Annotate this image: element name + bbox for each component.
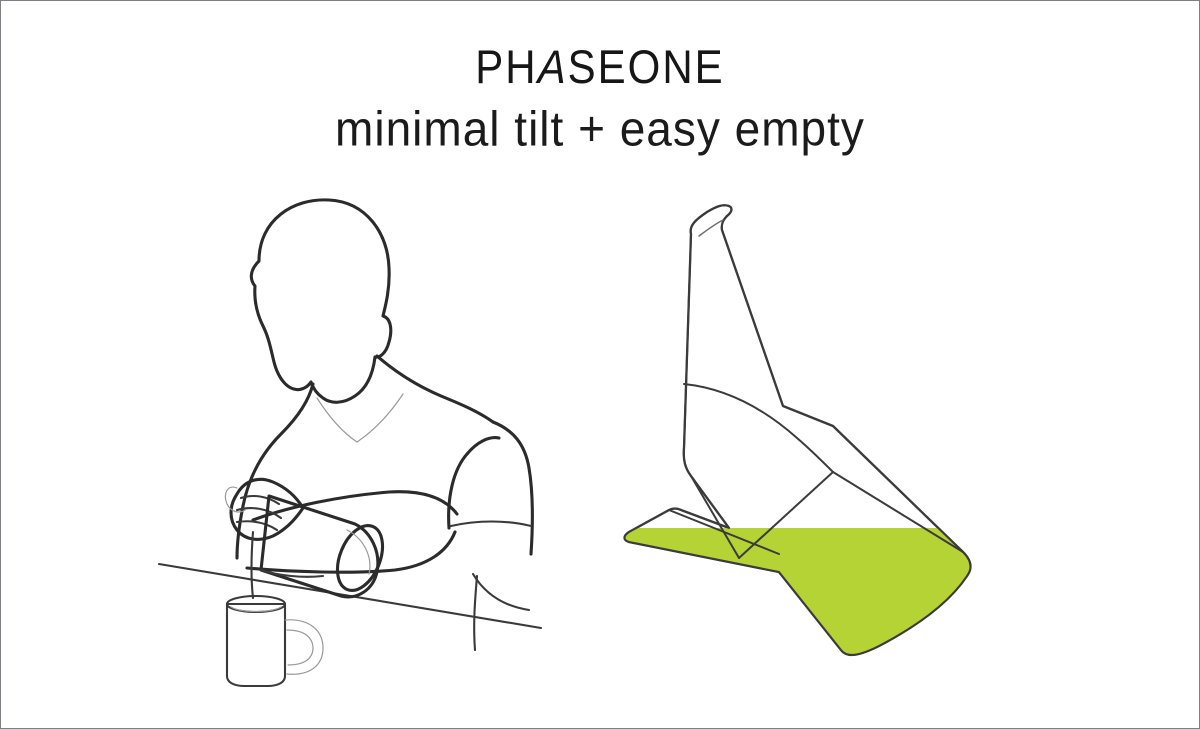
slide-canvas: PHASEONE minimal tilt + easy empty <box>0 0 1200 729</box>
brand-title-after: SEONE <box>568 40 725 93</box>
shoulder-right-line <box>377 356 493 422</box>
illustration-person-pouring <box>141 176 621 696</box>
container-rim <box>329 519 392 597</box>
head-outline <box>251 200 390 402</box>
tilted-vessel-svg <box>611 176 1081 676</box>
illustration-tilted-vessel <box>611 176 1081 676</box>
pour-stream-line <box>252 532 254 598</box>
page-title: PHASEONE <box>1 1 1199 91</box>
page-subtitle: minimal tilt + easy empty <box>1 81 1199 153</box>
brand-title-accent-letter: A <box>537 44 568 91</box>
mug-handle <box>285 620 323 674</box>
mug-body <box>227 604 285 686</box>
shirt-hem-line <box>473 574 529 610</box>
sleeve-hem-line <box>451 522 531 527</box>
person-pouring-svg <box>141 176 621 696</box>
finger-line-3 <box>237 521 277 530</box>
sleeve-right-outer <box>493 422 532 554</box>
slide-header: PHASEONE minimal tilt + easy empty <box>1 1 1199 149</box>
neck-left-line <box>243 384 313 506</box>
brand-title-before: PH <box>475 40 537 93</box>
mug-handle-inner <box>287 630 313 665</box>
forearm-lower-line <box>247 532 455 572</box>
forearm-upper-line <box>253 492 457 520</box>
torso-lower-line <box>474 576 477 650</box>
